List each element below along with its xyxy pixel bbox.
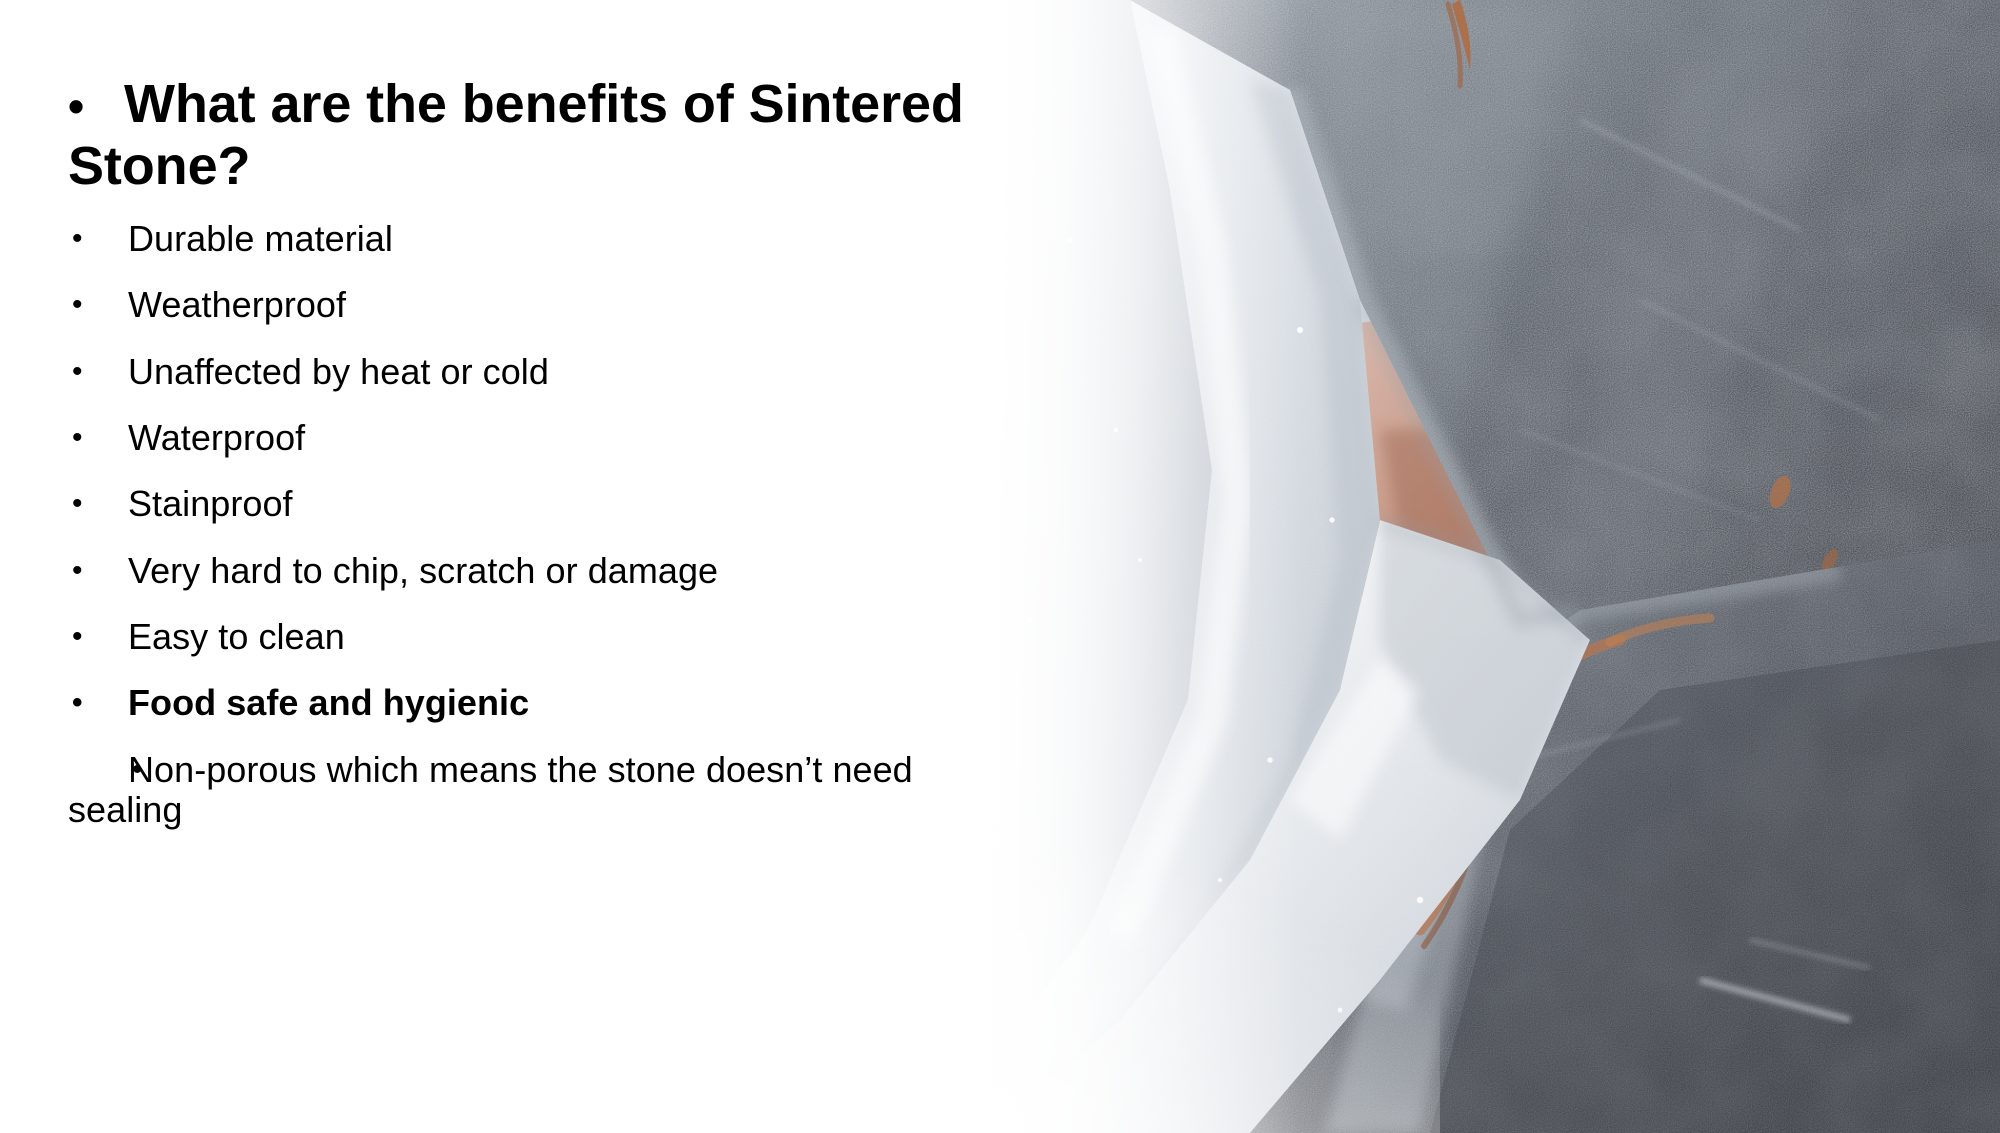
list-bullet-icon: • [72, 683, 83, 723]
list-item-label: Food safe and hygienic [128, 682, 529, 723]
list-item-label: Easy to clean [128, 616, 345, 657]
list-bullet-icon: • [72, 219, 83, 259]
list-item: • Waterproof [68, 418, 1010, 458]
slide-canvas: •What are the benefits of Sintered Stone… [0, 0, 2000, 1133]
benefits-list: • Durable material • Weatherproof • Unaf… [68, 219, 1010, 830]
list-bullet-icon: • [72, 750, 143, 790]
list-item-highlighted: • Food safe and hygienic [68, 683, 1010, 723]
title-bullet-icon: • [68, 80, 124, 132]
list-item: • Unaffected by heat or cold [68, 352, 1010, 392]
list-bullet-icon: • [72, 484, 83, 524]
list-item: • Durable material [68, 219, 1010, 259]
list-item: • Weatherproof [68, 285, 1010, 325]
page-title-text: What are the benefits of Sintered Stone? [68, 74, 964, 196]
list-bullet-icon: • [72, 418, 83, 458]
list-bullet-icon: • [72, 285, 83, 325]
list-item: • Easy to clean [68, 617, 1010, 657]
list-item-label: Very hard to chip, scratch or damage [128, 550, 718, 591]
list-item-label: Waterproof [128, 417, 305, 458]
list-bullet-icon: • [72, 551, 83, 591]
list-item: • Stainproof [68, 484, 1010, 524]
list-item-label: Stainproof [128, 483, 293, 524]
list-item-label: Unaffected by heat or cold [128, 351, 549, 392]
list-item: • Very hard to chip, scratch or damage [68, 551, 1010, 591]
list-item-label: Weatherproof [128, 284, 346, 325]
list-bullet-icon: • [72, 352, 83, 392]
list-bullet-icon: • [72, 617, 83, 657]
list-item: • Non-porous which means the stone doesn… [68, 750, 1010, 831]
list-item-label: Non-porous which means the stone doesn’t… [68, 749, 913, 830]
slide-text-content: •What are the benefits of Sintered Stone… [0, 0, 1010, 1133]
list-item-label: Durable material [128, 218, 393, 259]
page-title: •What are the benefits of Sintered Stone… [68, 74, 1010, 197]
